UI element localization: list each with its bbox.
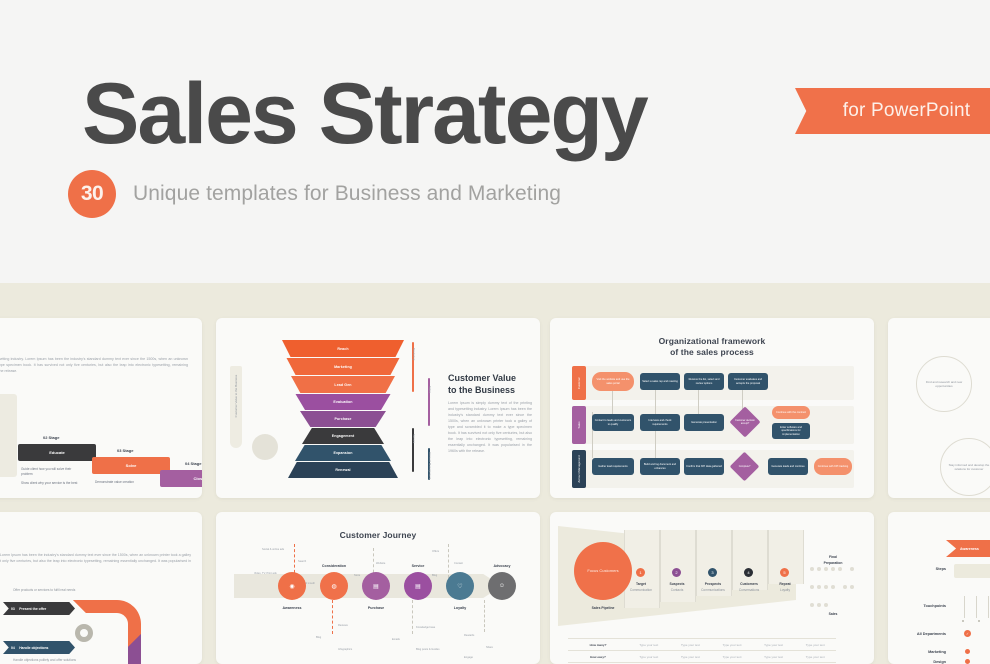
slide-card-sales-pipeline[interactable]: Focus Customers Sales Pipeline 1 2 3 4 5…	[550, 512, 874, 664]
pipeline-column	[732, 530, 768, 590]
matrix-dot	[850, 567, 854, 571]
row-label-marketing: Marketing	[890, 650, 946, 654]
slide-title-line1: Customer Value to the Business	[448, 372, 534, 396]
step-box-solve: Solve	[92, 457, 170, 474]
ribbon-label: Awareness	[960, 547, 979, 551]
stage-icon: ▤	[415, 583, 421, 590]
slide-body: Lorem Ipsum is simply dummy text of the …	[448, 400, 532, 454]
connector	[612, 388, 613, 414]
flow-terminal: Continue with the contract	[772, 406, 810, 419]
dot-matrix	[808, 560, 858, 614]
cell: Type your text	[670, 643, 712, 647]
stage-badge: 5	[780, 568, 789, 577]
flow-process: Generate leads and continue	[768, 458, 808, 475]
journey-stage-awareness: ◉	[278, 572, 306, 600]
powerpoint-ribbon: for PowerPoint	[795, 88, 990, 134]
hourglass-funnel: Reach Marketing Lead Gen Evaluation Purc…	[238, 318, 448, 498]
lane-header-sales: Sales	[572, 406, 586, 444]
slide-card-customer-value[interactable]: Customer Value to the Business Reach Mar…	[216, 318, 540, 498]
flow-terminal: Continue with KPI tracking	[814, 458, 852, 475]
step-stage-label: 03 Stage	[117, 448, 133, 453]
flow-process: Gather lead requirements	[592, 458, 634, 475]
journey-stage-label: Awareness	[269, 606, 315, 610]
step-stage-label: 04 Stage	[185, 461, 201, 466]
step-note: Handle objections politely and offer sol…	[13, 658, 79, 663]
cell: Type your text	[794, 655, 836, 659]
touchpoint-line	[976, 596, 977, 618]
funnel-band: Evaluation	[296, 394, 391, 410]
touchpoint-line	[964, 596, 965, 618]
journey-stage-label: Service	[395, 564, 441, 568]
step-label: Solve	[126, 463, 137, 468]
step-chevron-03: 03 Present the offer	[3, 602, 75, 615]
flow-process: Confirm that KPI data gathered	[684, 458, 724, 475]
flow-process: Customer evaluates and accepts the propo…	[728, 373, 768, 390]
cell: Type your text	[753, 655, 795, 659]
matrix-dot	[850, 585, 854, 589]
slide-card-customer-journey[interactable]: Customer Journey Social & online ads Sea…	[216, 512, 540, 664]
matrix-dot	[831, 585, 835, 589]
touchpoint-line	[988, 596, 989, 618]
touchpoint-dot	[978, 620, 980, 622]
stage-icon: ♡	[457, 583, 462, 590]
flow-process: Contact to leads and customers to qualif…	[592, 414, 634, 431]
journey-stage-label: Loyalty	[437, 606, 483, 610]
lane-header-customer: Customer	[572, 366, 586, 400]
matrix-dot	[810, 585, 814, 589]
step-label: Educate	[49, 450, 65, 455]
touchpoint-label: Emails	[392, 638, 400, 641]
department-dot-all: ✓	[964, 630, 971, 637]
stage-badge: 3	[708, 568, 717, 577]
touchpoint-label: Infographics	[338, 648, 352, 651]
funnel-band: Engagement	[302, 428, 384, 444]
stage-sublabel: Communication	[624, 588, 658, 593]
stage-sublabel: Communications	[696, 588, 730, 593]
touchpoint-label: Video, TV, Print ads	[254, 572, 277, 575]
stage-sublabel: Loyalty	[768, 588, 802, 593]
stage-badge: 1	[636, 568, 645, 577]
touchpoint-dot	[962, 620, 964, 622]
matrix-dot	[838, 567, 842, 571]
flow-process: Receive the list, select and review opti…	[684, 373, 724, 390]
step-note: Show client why your service is the best	[21, 481, 79, 486]
slide-title-line1: Organizational framework	[659, 336, 766, 346]
row-label-steps: Steps	[890, 567, 946, 571]
slide-card-circular-process[interactable]: Find and research and new opportunities …	[888, 318, 990, 498]
row-label-design: Design	[890, 660, 946, 664]
flow-process: Interview and check requirements	[640, 414, 680, 431]
row-label-all-departments: All Departments	[890, 632, 946, 636]
table-row: How many? Type your text Type your text …	[568, 638, 836, 650]
bracket-label: Account Management	[428, 452, 432, 479]
header-section: Sales Strategy 30 Unique templates for B…	[0, 0, 990, 283]
slide-card-selling-process[interactable]: Selling Process Lorem Ipsum is simply du…	[0, 318, 202, 498]
gear-icon	[75, 624, 93, 642]
stage-label: Customers	[732, 582, 766, 587]
slide-title: Customer Journey	[216, 530, 540, 541]
journey-stage-label: Consideration	[311, 564, 357, 568]
stage-icon: ◍	[331, 583, 336, 590]
subtitle-text: Unique templates for Business and Market…	[133, 182, 561, 206]
journey-stage-consideration: ◍	[320, 572, 348, 600]
funnel-band: Purchase	[300, 411, 386, 427]
touchpoint-label: Search	[298, 560, 306, 563]
flow-terminal: Visit the website and use the sales port…	[592, 372, 634, 391]
flow-process: Select a sales rep and meeting	[640, 373, 680, 390]
slide-body: Lorem Ipsum is simply dummy text of the …	[0, 356, 188, 374]
matrix-dot	[824, 567, 828, 571]
funnel-band: Reach	[282, 340, 404, 357]
journey-stage-loyalty: ♡	[446, 572, 474, 600]
bracket-label: Sales	[428, 386, 432, 393]
cell: Type your text	[794, 643, 836, 647]
stage-icon: ▤	[373, 583, 379, 590]
funnel-band: Expansion	[295, 445, 391, 461]
bracket-label: Marketing	[412, 348, 416, 360]
step-box-close: Close	[160, 470, 202, 487]
matrix-dot	[810, 567, 814, 571]
row-label: How many?	[568, 643, 628, 647]
hub-label: Focus Customers	[587, 568, 618, 574]
slide-gallery: Selling Process Lorem Ipsum is simply du…	[0, 283, 990, 664]
touchpoint-label: Reviews	[338, 624, 348, 627]
stage-label: Target	[624, 582, 658, 587]
flow-decision: Complete?	[730, 452, 760, 482]
touchpoint-label: Share	[486, 646, 493, 649]
matrix-dot	[831, 567, 835, 571]
journey-connector	[412, 600, 414, 634]
matrix-dot	[817, 585, 821, 589]
cell: Type your text	[628, 643, 670, 647]
flow-decision: Customer decision accept?	[729, 406, 760, 437]
callout-bubble: Find and research and new opportunities	[916, 356, 972, 412]
flow-process: Enter software and specifications for im…	[772, 423, 810, 439]
stage-badge: 4	[744, 568, 753, 577]
page-title: Sales Strategy	[82, 68, 647, 160]
journey-stage-label: Advocacy	[479, 564, 525, 568]
cell: Type your text	[628, 655, 670, 659]
final-prep-footer: Sales	[802, 612, 864, 617]
slide-title-line2: of the sales process	[670, 347, 754, 357]
matrix-dot	[817, 603, 821, 607]
step-box-educate: Educate	[18, 444, 96, 461]
stage-icon: ◉	[289, 583, 294, 590]
funnel-band: Renewal	[288, 462, 398, 478]
funnel-band: Lead Gen	[291, 376, 395, 393]
stage-sublabel: Conversations	[732, 588, 766, 593]
step-note: Guide client how you will solve their pr…	[21, 467, 79, 478]
journey-stage-service: ▤	[404, 572, 432, 600]
matrix-dot	[843, 585, 847, 589]
row-label-touchpoints: Touchpoints	[890, 604, 946, 608]
touchpoint-label: Rewards	[464, 634, 474, 637]
slide-card-org-framework[interactable]: Organizational framework of the sales pr…	[550, 318, 874, 498]
touchpoint-label: Contact	[454, 562, 463, 565]
slide-body: Lorem Ipsum is simply dummy text of the …	[0, 552, 191, 570]
department-dot-design	[965, 659, 970, 664]
template-count-badge: 30	[68, 170, 116, 218]
journey-connector	[332, 600, 334, 634]
connector	[655, 430, 656, 458]
connector	[655, 388, 656, 414]
stage-label: Prospects	[696, 582, 730, 587]
matrix-dot	[824, 603, 828, 607]
step-chevron-04: 04 Handle objections	[3, 641, 75, 654]
touchpoint-label: Blog posts & Guides	[416, 648, 440, 651]
touchpoint-label: Website	[376, 562, 385, 565]
slide-card-sales-steps-loop[interactable]: Lorem Ipsum is simply dummy text of the …	[0, 512, 202, 664]
touchpoint-label: Offers	[432, 550, 439, 553]
journey-connector	[484, 600, 486, 632]
cell: Type your text	[711, 655, 753, 659]
flow-process: Build and log document and enhances	[640, 458, 680, 475]
touchpoint-label: Knowledge base	[416, 626, 435, 629]
slide-title-line2: to the Business	[448, 385, 515, 395]
stage-icon: ☺	[499, 583, 505, 589]
cell: Type your text	[753, 643, 795, 647]
touchpoint-label: Blog	[316, 636, 321, 639]
journey-stage-advocacy: ☺	[488, 572, 516, 600]
connector	[698, 388, 699, 414]
matrix-dot	[817, 567, 821, 571]
pipeline-table: How many? Type your text Type your text …	[568, 638, 836, 664]
journey-connector	[448, 544, 450, 578]
journey-stage-purchase: ▤	[362, 572, 390, 600]
department-dot-marketing	[965, 649, 970, 654]
subtitle-row: 30 Unique templates for Business and Mar…	[68, 170, 561, 218]
stage-label: Repeat	[768, 582, 802, 587]
lane-header-account: Account Management	[572, 450, 586, 488]
touchpoint-label: Social & online ads	[262, 548, 284, 551]
promo-page: Sales Strategy 30 Unique templates for B…	[0, 0, 990, 664]
step-label: Close	[194, 476, 202, 481]
slide-card-departments-matrix[interactable]: Awareness Type your text Steps Touchpoin…	[888, 512, 990, 664]
highlight-panel	[0, 394, 17, 477]
matrix-ribbon: Awareness	[946, 540, 990, 557]
funnel-band: Marketing	[287, 358, 400, 375]
callout-bubble: Stay informed and develop the relations …	[940, 438, 990, 496]
slide-title: Organizational framework of the sales pr…	[550, 336, 874, 358]
row-label: How easy?	[568, 655, 628, 659]
touchpoint-label: Blog	[432, 574, 437, 577]
matrix-dot	[810, 603, 814, 607]
stage-sublabel: Contacts	[660, 588, 694, 593]
matrix-value-box: Type your text	[954, 564, 990, 578]
cell: Type your text	[670, 655, 712, 659]
journey-stage-label: Purchase	[353, 606, 399, 610]
stage-badge: 2	[672, 568, 681, 577]
step-note: Demonstrate value creation	[95, 480, 153, 485]
stage-label: Suspects	[660, 582, 694, 587]
touchpoint-label: Engage	[464, 656, 473, 659]
bracket-label: Service	[412, 434, 416, 443]
cell: Type your text	[711, 643, 753, 647]
table-row: How easy? Type your text Type your text …	[568, 650, 836, 662]
pipeline-caption: Sales Pipeline	[572, 606, 634, 611]
flow-process: Generate presentation	[684, 414, 724, 431]
ribbon-label: for PowerPoint	[825, 100, 970, 122]
step-stage-label: 02 Stage	[43, 435, 59, 440]
touchpoint-label: Store	[354, 574, 360, 577]
funnel-callout-circle	[252, 434, 278, 460]
step-note: Offer products or services to fulfil rea…	[13, 588, 79, 593]
matrix-dot	[824, 585, 828, 589]
